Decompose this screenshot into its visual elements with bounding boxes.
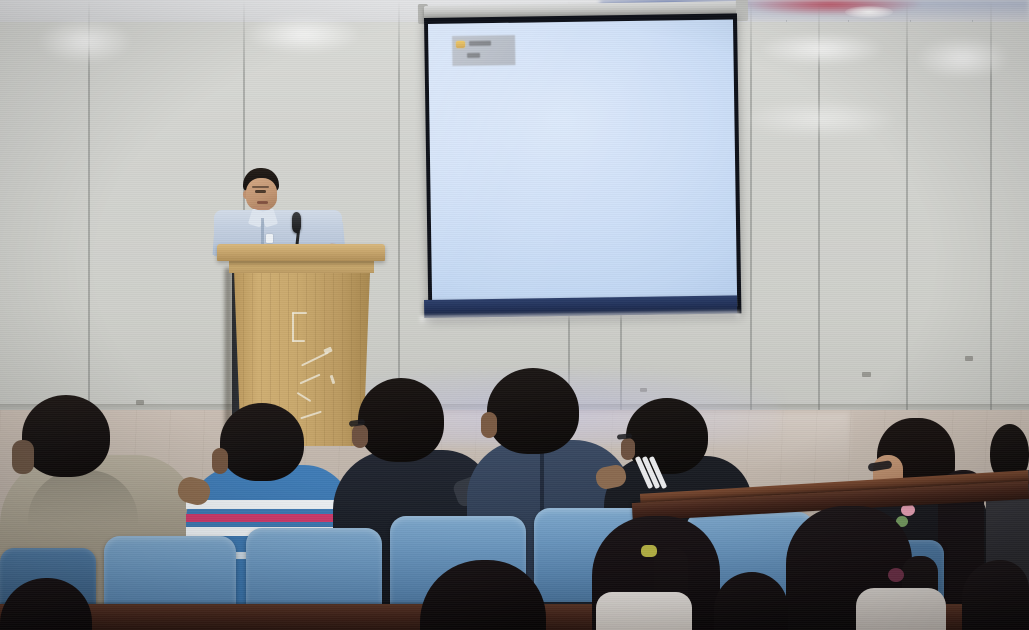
attendee-foreground-right-top xyxy=(856,588,946,630)
speaker-mouth xyxy=(257,201,268,204)
podium-emblem-stroke xyxy=(292,312,294,342)
attendee-navy-shirt-head xyxy=(487,368,579,454)
speaker-eye xyxy=(255,190,266,193)
ceiling-light-icon xyxy=(845,6,893,18)
attendee-khaki-jacket-head xyxy=(22,395,110,477)
podium-emblem-stroke xyxy=(292,312,307,314)
screen-roller-cap xyxy=(736,0,748,21)
attendee-polo-ear xyxy=(212,448,228,474)
attendee-foreground-far-right-head xyxy=(962,560,1029,630)
attendee-striped-polo-head xyxy=(220,403,304,481)
wall-highlight xyxy=(918,38,1008,78)
auditorium-photo xyxy=(0,0,1029,630)
attendee-track-ear xyxy=(621,438,635,460)
podium-neck xyxy=(229,259,374,273)
speaker-badge xyxy=(266,234,273,243)
speaker-brow xyxy=(252,186,269,188)
hair-tie-icon xyxy=(641,545,657,557)
attendee-dark-shirt-head xyxy=(358,378,444,462)
wall-highlight xyxy=(744,102,894,136)
attendee-dark-ear xyxy=(352,424,368,448)
podium-top xyxy=(217,244,385,261)
wall-highlight xyxy=(40,20,130,62)
wall-highlight xyxy=(248,16,358,52)
attendee-khaki-ear xyxy=(12,440,34,474)
attendee-white-top-shirt xyxy=(596,592,692,630)
polo-stripe-white xyxy=(186,500,352,509)
wall-scuff xyxy=(965,356,973,361)
wall-highlight xyxy=(762,34,882,64)
podium-emblem-stroke xyxy=(292,340,305,342)
polo-stripe-pink xyxy=(186,514,352,522)
hair-clip-icon xyxy=(888,568,904,582)
attendee-navy-ear xyxy=(481,412,497,438)
microphone-icon xyxy=(292,212,301,233)
screen-glare xyxy=(428,19,737,310)
wall-scuff xyxy=(862,372,871,377)
